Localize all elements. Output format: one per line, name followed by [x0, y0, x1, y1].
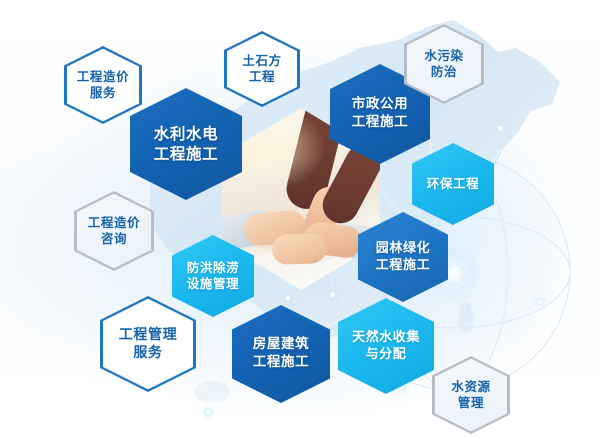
sparkle-dot	[498, 126, 503, 131]
hex-badge-tianranshui-shouji-yu-fenpei[interactable]: 天然水收集 与分配	[338, 298, 434, 394]
hex-label: 环保工程	[427, 176, 479, 193]
hex-label: 天然水收集 与分配	[352, 329, 420, 363]
hex-badge-gongcheng-guanli-fuwu[interactable]: 工程管理 服务	[100, 296, 196, 392]
hex-label: 水利水电 工程施工	[154, 124, 218, 165]
hex-label: 工程造价 咨询	[88, 215, 140, 248]
sparkle-dot	[330, 292, 335, 297]
hex-label: 水污染 防治	[424, 48, 463, 81]
hex-label: 工程造价 服务	[77, 69, 129, 102]
hex-label: 市政公用 工程施工	[352, 96, 408, 132]
hex-label: 房屋建筑 工程施工	[253, 336, 309, 372]
hex-badge-gongcheng-zaojia-zixun[interactable]: 工程造价 咨询	[74, 191, 154, 271]
infographic-canvas: 工程造价 服务土石方 工程水利水电 工程施工市政公用 工程施工水污染 防治环保工…	[0, 0, 600, 439]
hex-label: 工程管理 服务	[119, 326, 177, 363]
sparkle-dot	[538, 300, 542, 304]
hex-badge-shuiwuran-fangzhi[interactable]: 水污染 防治	[404, 24, 484, 104]
hex-label: 水资源 管理	[451, 379, 490, 412]
hex-badge-yuanlin-lvhua-gongcheng-shigong[interactable]: 园林绿化 工程施工	[358, 212, 448, 302]
hex-badge-shuiziyuan-guanli[interactable]: 水资源 管理	[432, 356, 510, 434]
hex-label: 土石方 工程	[242, 53, 281, 86]
sparkle-dot	[286, 296, 290, 300]
hex-badge-shuili-shuidian-gongcheng-shigong[interactable]: 水利水电 工程施工	[130, 88, 242, 200]
hex-label: 园林绿化 工程施工	[376, 240, 430, 274]
hex-badge-fangwu-jianzhu-gongcheng-shigong[interactable]: 房屋建筑 工程施工	[232, 305, 330, 403]
hex-label: 防洪除涝 设施管理	[187, 260, 239, 293]
sparkle-dot	[206, 410, 211, 415]
